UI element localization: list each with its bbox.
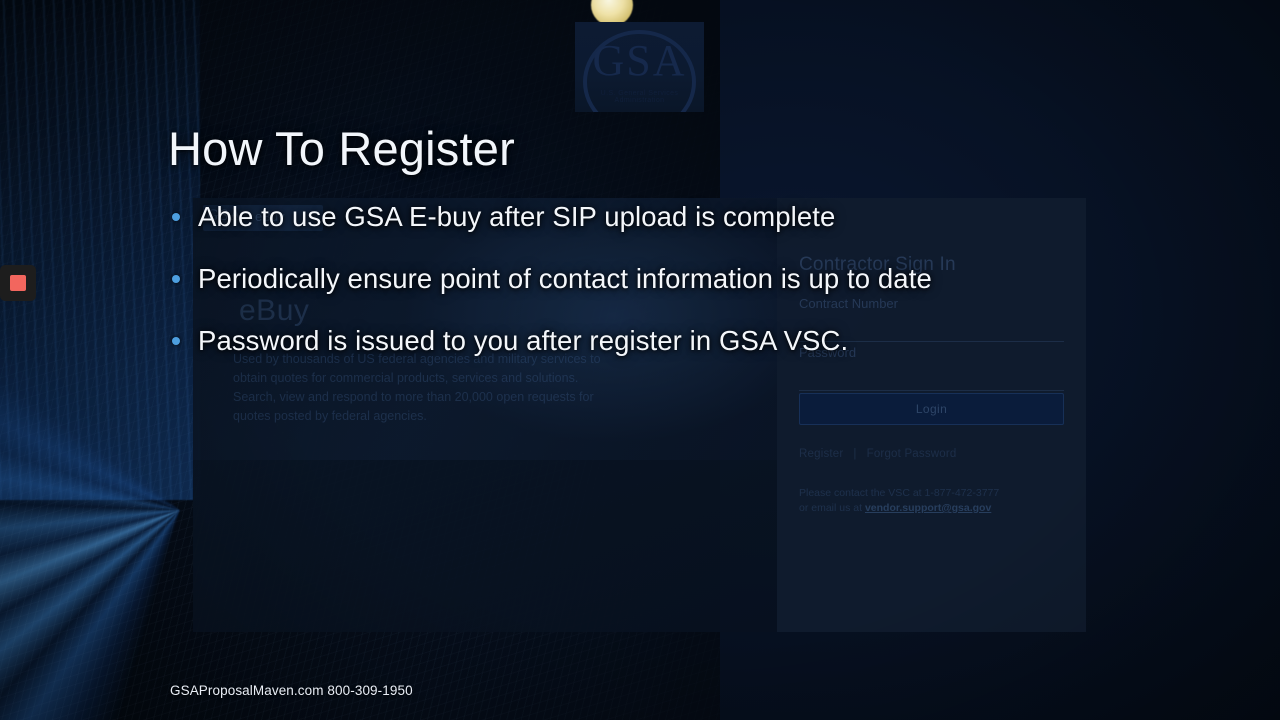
slide-title: How To Register (168, 123, 515, 175)
ghost-help-prefix: or email us at (799, 502, 865, 514)
ghost-register-link[interactable]: Register (799, 448, 843, 460)
stop-recording-button[interactable] (0, 265, 36, 301)
bullet-text: Periodically ensure point of contact inf… (198, 262, 932, 296)
ghost-help-email-link[interactable]: vendor.support@gsa.gov (865, 502, 991, 514)
bullet-list: Able to use GSA E-buy after SIP upload i… (168, 200, 1068, 386)
gsa-subtitle: U.S. General Services Administration (575, 90, 704, 104)
ghost-sign-in-links[interactable]: Register|Forgot Password (799, 448, 967, 460)
ghost-help-line-1: Please contact the VSC at 1-877-472-3777 (799, 486, 1069, 501)
bullet-text: Able to use GSA E-buy after SIP upload i… (198, 200, 835, 234)
bullet-item: Password is issued to you after register… (168, 324, 1068, 358)
bullet-dot-icon (172, 213, 180, 221)
presentation-slide: GSA U.S. General Services Administration… (0, 0, 1280, 720)
bullet-item: Able to use GSA E-buy after SIP upload i… (168, 200, 1068, 234)
ghost-help-text: Please contact the VSC at 1-877-472-3777… (799, 486, 1069, 516)
bullet-dot-icon (172, 275, 180, 283)
ghost-help-line-2: or email us at vendor.support@gsa.gov (799, 501, 1069, 516)
bullet-item: Periodically ensure point of contact inf… (168, 262, 1068, 296)
gsa-wordmark: GSA (575, 39, 704, 83)
stop-square-icon (10, 275, 26, 291)
ghost-login-button[interactable]: Login (799, 393, 1064, 425)
bullet-dot-icon (172, 337, 180, 345)
slide-footer: GSAProposalMaven.com 800-309-1950 (170, 683, 413, 698)
ghost-link-separator: | (853, 448, 856, 460)
bullet-text: Password is issued to you after register… (198, 324, 848, 358)
ghost-forgot-password-link[interactable]: Forgot Password (867, 448, 957, 460)
gsa-logo: GSA U.S. General Services Administration (575, 22, 704, 112)
